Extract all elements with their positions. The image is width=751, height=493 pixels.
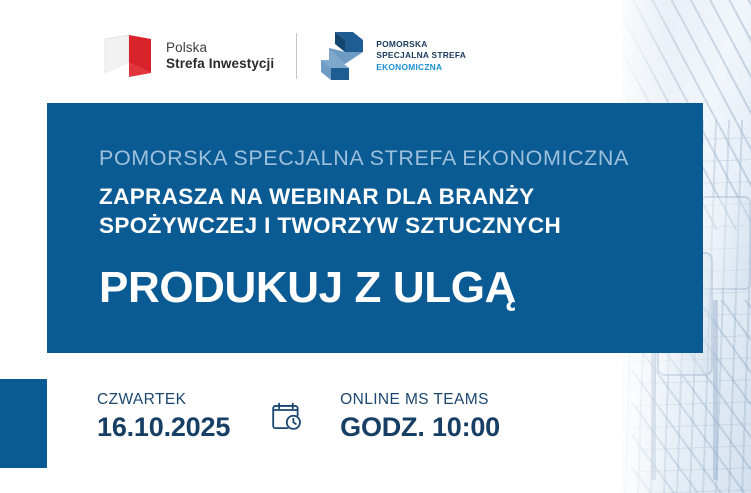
logo-bar: Polska Strefa Inwestycji POMORSKA SPECJA… xyxy=(103,28,466,84)
psse-logo: POMORSKA SPECJALNA STREFA EKONOMICZNA xyxy=(319,30,466,82)
logo-divider xyxy=(296,33,297,79)
webinar-poster: Polska Strefa Inwestycji POMORSKA SPECJA… xyxy=(0,0,751,493)
date-block: CZWARTEK 16.10.2025 xyxy=(97,391,230,442)
psse-logo-line2: SPECJALNA STREFA xyxy=(376,50,466,61)
date-value: 16.10.2025 xyxy=(97,412,230,443)
banner-text-block: POMORSKA SPECJALNA STREFA EKONOMICZNA ZA… xyxy=(99,147,683,310)
psi-logo-wordmark: Polska Strefa Inwestycji xyxy=(166,40,274,71)
platform-value: GODZ. 10:00 xyxy=(340,412,500,443)
banner-headline: PRODUKUJ Z ULGĄ xyxy=(99,266,683,310)
banner-subtitle-line2: SPOŻYWCZEJ I TWORZYW SZTUCZNYCH xyxy=(99,211,683,241)
psi-logo: Polska Strefa Inwestycji xyxy=(103,33,274,79)
left-accent-square xyxy=(0,379,47,468)
banner-kicker: POMORSKA SPECJALNA STREFA EKONOMICZNA xyxy=(99,147,683,170)
banner-subtitle-line1: ZAPRASZA NA WEBINAR DLA BRANŻY xyxy=(99,182,683,212)
psse-logo-line1: POMORSKA xyxy=(376,39,466,50)
calendar-clock-icon xyxy=(268,398,306,436)
psse-logo-line3: EKONOMICZNA xyxy=(376,62,466,73)
psi-logo-line1: Polska xyxy=(166,40,274,56)
footer-info-row: CZWARTEK 16.10.2025 ONLINE MS TEAMS GODZ… xyxy=(97,391,500,442)
platform-label: ONLINE MS TEAMS xyxy=(340,391,500,409)
pomorska-specjalna-strefa-ekonomiczna-mark-icon xyxy=(319,30,365,82)
polska-strefa-inwestycji-mark-icon xyxy=(103,33,153,79)
date-label: CZWARTEK xyxy=(97,391,230,409)
calendar-clock-icon-glyph xyxy=(270,400,304,434)
main-banner: POMORSKA SPECJALNA STREFA EKONOMICZNA ZA… xyxy=(47,103,703,353)
psi-logo-line2: Strefa Inwestycji xyxy=(166,56,274,72)
psse-logo-wordmark: POMORSKA SPECJALNA STREFA EKONOMICZNA xyxy=(376,39,466,72)
platform-block: ONLINE MS TEAMS GODZ. 10:00 xyxy=(340,391,500,442)
